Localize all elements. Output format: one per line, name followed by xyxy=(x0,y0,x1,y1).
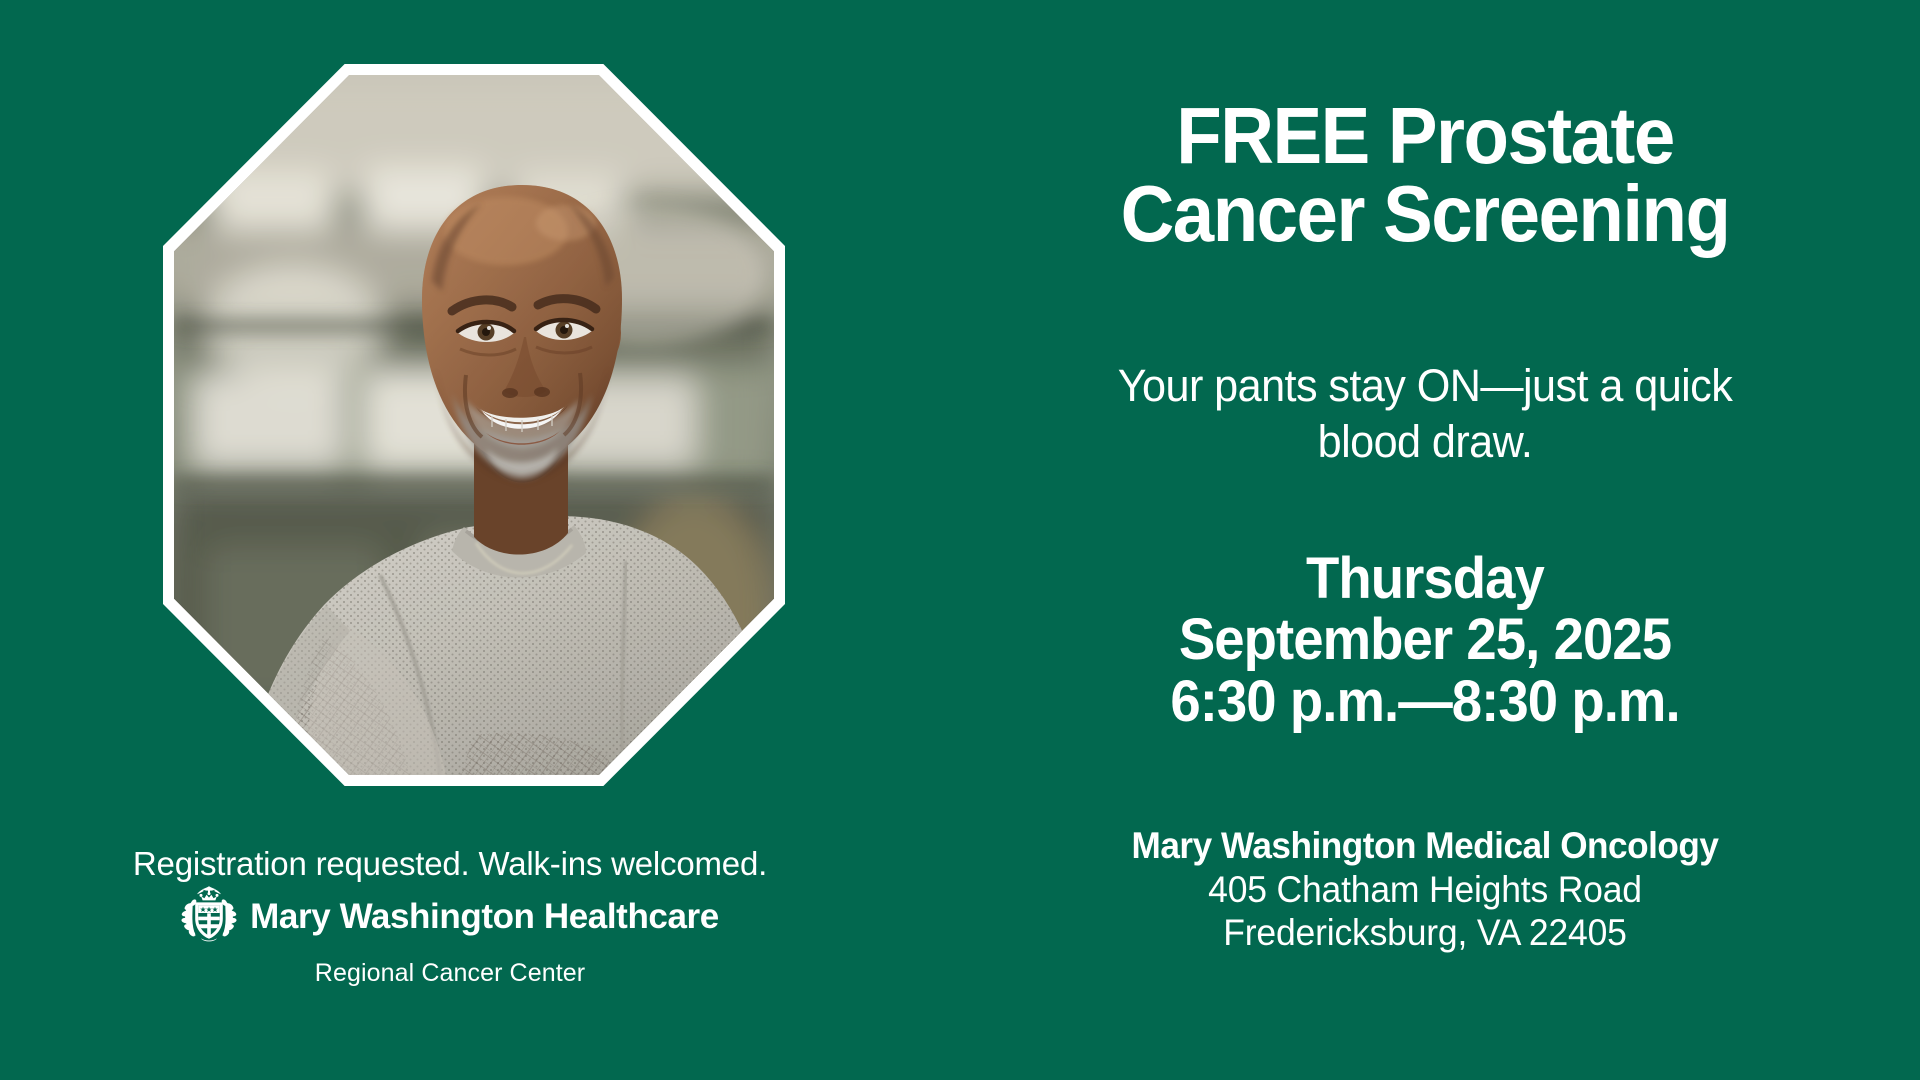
mwhc-crest-icon xyxy=(181,885,237,947)
event-venue: Mary Washington Medical Oncology 405 Cha… xyxy=(930,824,1920,955)
venue-city: Fredericksburg, VA 22405 xyxy=(950,911,1900,955)
logo-wordmark: Mary Washington Healthcare xyxy=(250,899,719,934)
event-time: 6:30 p.m.—8:30 p.m. xyxy=(960,671,1891,732)
event-datetime: Thursday September 25, 2025 6:30 p.m.—8:… xyxy=(960,548,1891,732)
registration-note: Registration requested. Walk-ins welcome… xyxy=(0,845,900,883)
headline: FREE Prostate Cancer Screening xyxy=(965,97,1886,252)
logo-sub-brand: Regional Cancer Center xyxy=(315,961,585,986)
venue-name: Mary Washington Medical Oncology xyxy=(955,824,1896,868)
brand-logo-lockup: Mary Washington Healthcare Regional Canc… xyxy=(0,885,900,986)
subheadline-line-1: Your pants stay ON—just a quick xyxy=(1118,360,1732,411)
logo-primary-row: Mary Washington Healthcare xyxy=(181,885,719,947)
headline-line-1: FREE Prostate xyxy=(1176,91,1673,180)
patient-photo xyxy=(174,75,774,775)
headline-line-2: Cancer Screening xyxy=(965,175,1886,253)
photo-octagon-frame xyxy=(163,64,785,786)
subheadline: Your pants stay ON—just a quick blood dr… xyxy=(950,358,1900,471)
subheadline-line-2: blood draw. xyxy=(950,414,1900,470)
event-day: Thursday xyxy=(960,548,1891,609)
event-date: September 25, 2025 xyxy=(960,609,1891,670)
left-column: Registration requested. Walk-ins welcome… xyxy=(0,0,960,1080)
right-column: FREE Prostate Cancer Screening Your pant… xyxy=(930,0,1920,1080)
venue-street: 405 Chatham Heights Road xyxy=(950,868,1900,912)
promotional-poster: Registration requested. Walk-ins welcome… xyxy=(0,0,1920,1080)
